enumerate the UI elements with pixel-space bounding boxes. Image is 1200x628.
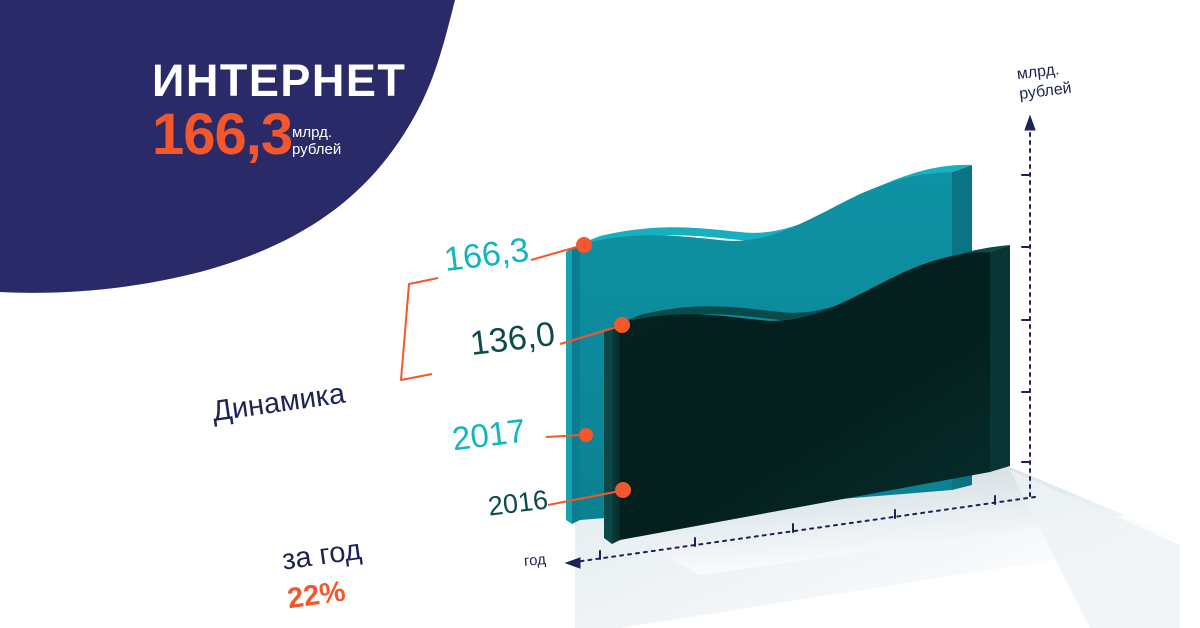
headline-value: 166,3	[152, 106, 292, 164]
dynamics-line-1: Динамика	[210, 366, 414, 433]
page-title: ИНТЕРНЕТ	[152, 58, 406, 103]
y-axis-arrow	[1025, 116, 1035, 130]
dot-2017	[579, 428, 593, 442]
dynamics-percent: 22%	[285, 575, 347, 615]
dynamics-line-2-text: за год	[280, 534, 364, 577]
headline-unit: млрд. рублей	[292, 124, 341, 159]
x-axis-arrow	[566, 558, 580, 568]
headline-block: ИНТЕРНЕТ 166,3 млрд. рублей	[152, 58, 492, 168]
dot-166	[576, 237, 592, 253]
dynamics-line-2: за год 22%	[226, 482, 446, 628]
x-axis-caption: год	[523, 552, 546, 569]
dot-136	[614, 317, 630, 333]
y-axis-ticks	[1022, 175, 1030, 462]
dot-2016	[615, 482, 631, 498]
y-axis-caption: млрд. рублей	[1016, 59, 1073, 105]
infographic-canvas: ИНТЕРНЕТ 166,3 млрд. рублей млрд. рублей…	[0, 0, 1200, 628]
year-label-2017: 2017	[450, 414, 527, 456]
